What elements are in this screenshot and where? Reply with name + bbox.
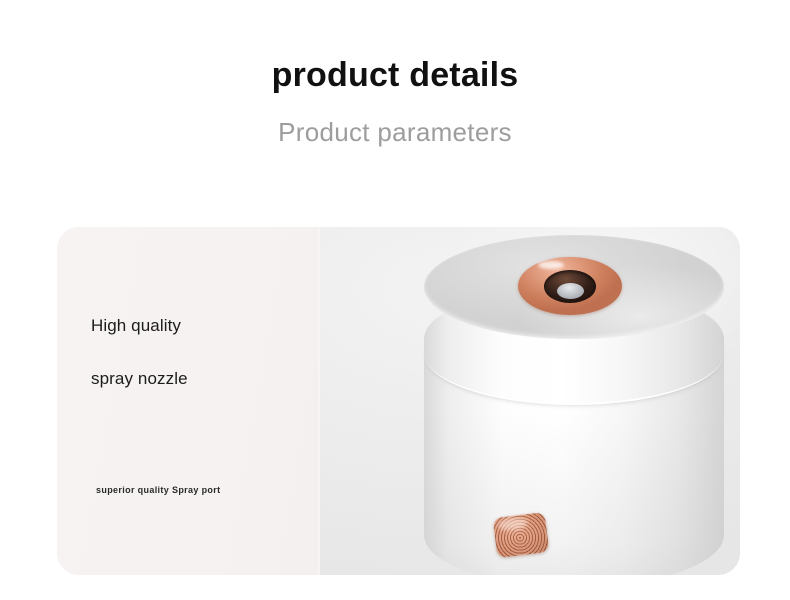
body-shading: [424, 413, 724, 575]
product-detail-panel: [57, 227, 740, 575]
nozzle-dome: [557, 283, 584, 299]
spray-nozzle-icon: [518, 257, 622, 315]
callout-line-1: High quality: [91, 316, 181, 336]
nozzle-recess: [544, 270, 596, 303]
power-button-icon: [493, 512, 549, 558]
callout-caption: superior quality Spray port: [96, 485, 220, 495]
product-image: [320, 227, 740, 575]
panel-left-background: [57, 227, 320, 575]
callout-line-2: spray nozzle: [91, 369, 188, 389]
nozzle-specular-highlight: [538, 261, 564, 269]
page-subtitle: Product parameters: [0, 118, 790, 147]
page-title: product details: [0, 57, 790, 94]
